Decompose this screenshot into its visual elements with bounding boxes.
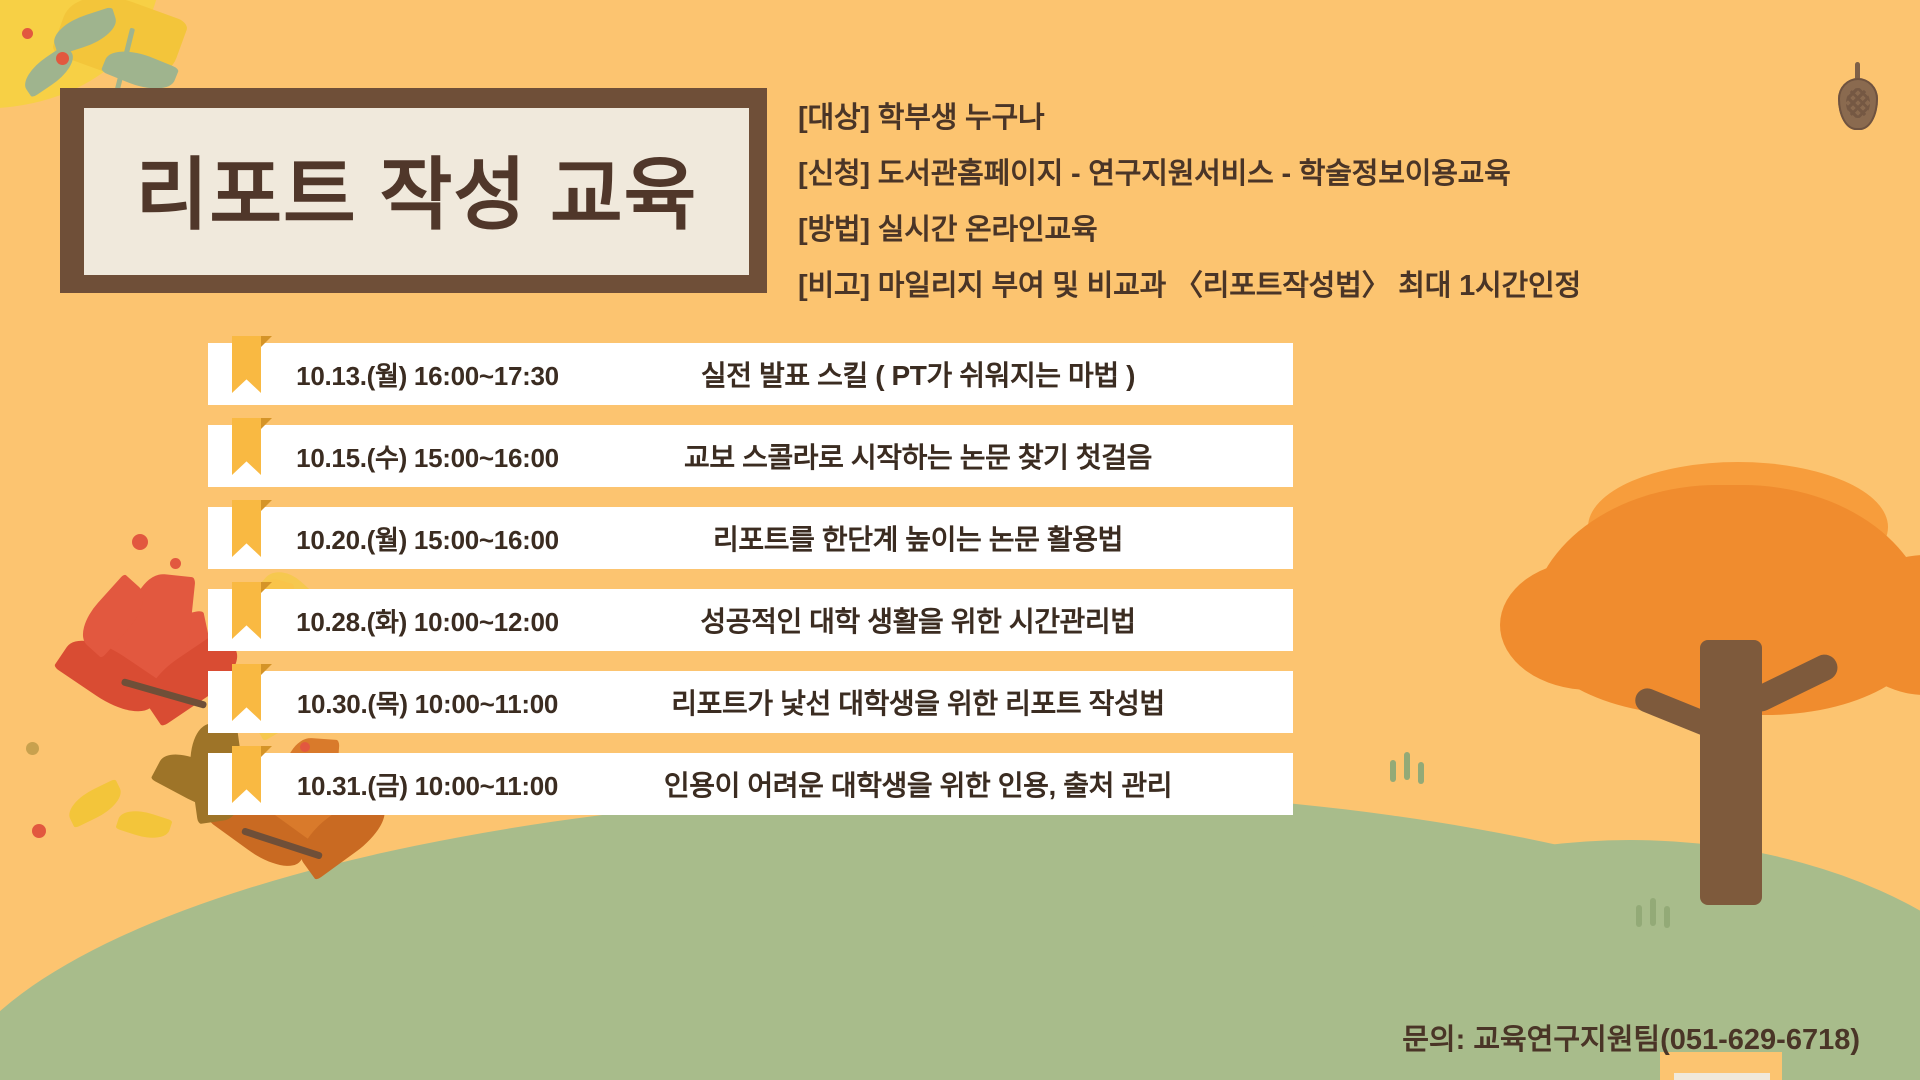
grass-tuft-icon <box>1650 898 1656 926</box>
grass-tuft-icon <box>1418 762 1424 784</box>
ribbon-fold-icon <box>261 500 272 511</box>
ribbon-fold-icon <box>261 336 272 347</box>
schedule-date: 10.31.(금) 10:00~11:00 <box>208 766 583 803</box>
poster-title-frame: 리포트 작성 교육 <box>60 88 767 293</box>
tree-trunk-icon <box>1700 640 1762 905</box>
poster-title-inner: 리포트 작성 교육 <box>84 108 749 275</box>
schedule-title: 리포트가 낯선 대학생을 위한 리포트 작성법 <box>583 682 1293 722</box>
schedule-date: 10.20.(월) 15:00~16:00 <box>208 520 583 557</box>
schedule-row[interactable]: 10.28.(화) 10:00~12:00 성공적인 대학 생활을 위한 시간관… <box>208 589 1293 651</box>
grass-tuft-icon <box>1664 906 1670 928</box>
schedule-row[interactable]: 10.31.(금) 10:00~11:00 인용이 어려운 대학생을 위한 인용… <box>208 753 1293 815</box>
schedule-date: 10.28.(화) 10:00~12:00 <box>208 602 583 639</box>
decor-dot <box>170 558 181 569</box>
grass-tuft-icon <box>1636 905 1642 927</box>
frame-notch-bar-decor <box>1674 1073 1770 1080</box>
grass-tuft-icon <box>1404 752 1410 780</box>
schedule-list: 10.13.(월) 16:00~17:30 실전 발표 스킬 ( PT가 쉬워지… <box>208 343 1293 835</box>
page-title: 리포트 작성 교육 <box>136 130 698 245</box>
berry-icon <box>22 28 33 39</box>
schedule-date: 10.13.(월) 16:00~17:30 <box>208 356 583 393</box>
schedule-row[interactable]: 10.13.(월) 16:00~17:30 실전 발표 스킬 ( PT가 쉬워지… <box>208 343 1293 405</box>
poster-canvas: 리포트 작성 교육 [대상] 학부생 누구나 [신청] 도서관홈페이지 - 연구… <box>0 0 1920 1080</box>
decor-dot <box>132 534 148 550</box>
info-block: [대상] 학부생 누구나 [신청] 도서관홈페이지 - 연구지원서비스 - 학술… <box>798 104 1888 328</box>
schedule-title: 리포트를 한단계 높이는 논문 활용법 <box>583 518 1293 558</box>
schedule-date: 10.30.(목) 10:00~11:00 <box>208 684 583 721</box>
grass-tuft-icon <box>1390 760 1396 782</box>
berry-icon <box>56 52 69 65</box>
schedule-row[interactable]: 10.15.(수) 15:00~16:00 교보 스콜라로 시작하는 논문 찾기… <box>208 425 1293 487</box>
decor-dot <box>32 824 46 838</box>
schedule-title: 교보 스콜라로 시작하는 논문 찾기 첫걸음 <box>583 436 1293 476</box>
ribbon-fold-icon <box>261 746 272 757</box>
ribbon-fold-icon <box>261 664 272 675</box>
info-line-target: [대상] 학부생 누구나 <box>798 104 1888 133</box>
yellow-leaf-icon <box>115 805 172 845</box>
decor-dot <box>26 742 39 755</box>
schedule-row[interactable]: 10.30.(목) 10:00~11:00 리포트가 낯선 대학생을 위한 리포… <box>208 671 1293 733</box>
ribbon-fold-icon <box>261 582 272 593</box>
schedule-row[interactable]: 10.20.(월) 15:00~16:00 리포트를 한단계 높이는 논문 활용… <box>208 507 1293 569</box>
ribbon-fold-icon <box>261 418 272 429</box>
schedule-title: 성공적인 대학 생활을 위한 시간관리법 <box>583 600 1293 640</box>
info-line-notes: [비고] 마일리지 부여 및 비교과 〈리포트작성법〉 최대 1시간인정 <box>798 272 1888 301</box>
schedule-date: 10.15.(수) 15:00~16:00 <box>208 438 583 475</box>
footer-contact: 문의: 교육연구지원팀(051-629-6718) <box>1402 1016 1860 1058</box>
schedule-title: 실전 발표 스킬 ( PT가 쉬워지는 마법 ) <box>583 354 1293 394</box>
info-line-application: [신청] 도서관홈페이지 - 연구지원서비스 - 학술정보이용교육 <box>798 160 1888 189</box>
schedule-title: 인용이 어려운 대학생을 위한 인용, 출처 관리 <box>583 764 1293 804</box>
info-line-method: [방법] 실시간 온라인교육 <box>798 216 1888 245</box>
